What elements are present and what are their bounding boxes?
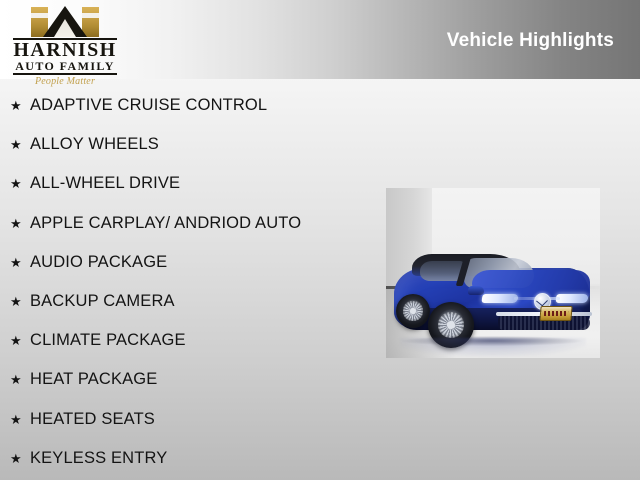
star-icon: ★: [10, 439, 22, 478]
car-side-mirror: [468, 286, 484, 295]
feature-label: HEAT PACKAGE: [30, 370, 157, 388]
vehicle-photo: [386, 188, 600, 358]
harnish-monogram-icon: [29, 7, 101, 37]
feature-label: AUDIO PACKAGE: [30, 253, 167, 271]
star-icon: ★: [10, 321, 22, 360]
feature-label: KEYLESS ENTRY: [30, 449, 167, 467]
list-item: ★ ADAPTIVE CRUISE CONTROL: [0, 86, 380, 125]
star-icon: ★: [10, 164, 22, 203]
car-hub-rear: [410, 308, 415, 313]
logo-subtitle: AUTO FAMILY: [12, 60, 118, 72]
vehicle-illustration: [394, 246, 592, 346]
feature-label: CLIMATE PACKAGE: [30, 331, 186, 349]
dealer-license-plate: [539, 306, 572, 321]
page-header: HARNISH AUTO FAMILY People Matter Vehicl…: [0, 0, 640, 79]
star-icon: ★: [10, 204, 22, 243]
dealer-logo: HARNISH AUTO FAMILY People Matter: [12, 7, 118, 77]
star-icon: ★: [10, 282, 22, 321]
feature-label: HEATED SEATS: [30, 410, 155, 428]
vehicle-highlights-page: HARNISH AUTO FAMILY People Matter Vehicl…: [0, 0, 640, 480]
star-icon: ★: [10, 400, 22, 439]
feature-label: ADAPTIVE CRUISE CONTROL: [30, 96, 267, 114]
feature-label: ALLOY WHEELS: [30, 135, 159, 153]
monogram-a-chevron: [43, 6, 87, 37]
list-item: ★ CLIMATE PACKAGE: [0, 321, 380, 360]
star-icon: ★: [10, 243, 22, 282]
feature-label: BACKUP CAMERA: [30, 292, 175, 310]
star-icon: ★: [10, 360, 22, 399]
feature-label: ALL-WHEEL DRIVE: [30, 174, 180, 192]
car-wheel-rear: [396, 294, 430, 328]
list-item: ★ ALL-WHEEL DRIVE: [0, 164, 380, 203]
car-headlight-right: [556, 294, 589, 303]
vehicle-highlights-list: ★ ADAPTIVE CRUISE CONTROL ★ ALLOY WHEELS…: [0, 86, 380, 478]
list-item: ★ AUDIO PACKAGE: [0, 243, 380, 282]
list-item: ★ APPLE CARPLAY/ ANDRIOD AUTO: [0, 204, 380, 243]
logo-name: HARNISH: [12, 41, 118, 60]
list-item: ★ BACKUP CAMERA: [0, 282, 380, 321]
feature-label: APPLE CARPLAY/ ANDRIOD AUTO: [30, 214, 301, 232]
logo-divider-bottom: [13, 73, 117, 75]
list-item: ★ HEATED SEATS: [0, 400, 380, 439]
car-hub-front: [447, 321, 454, 328]
page-title: Vehicle Highlights: [447, 30, 614, 52]
star-icon: ★: [10, 125, 22, 164]
star-icon: ★: [10, 86, 22, 125]
list-item: ★ ALLOY WHEELS: [0, 125, 380, 164]
list-item: ★ KEYLESS ENTRY: [0, 439, 380, 478]
list-item: ★ HEAT PACKAGE: [0, 360, 380, 399]
car-floor-reflection: [400, 338, 586, 356]
